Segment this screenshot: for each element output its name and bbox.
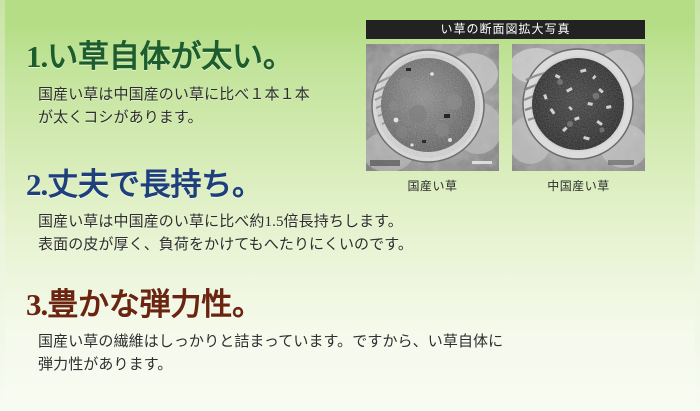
feature-1-body: 国産い草は中国産のい草に比べ１本１本 が太くコシがあります。 — [38, 84, 310, 130]
feature-3-number: 3. — [26, 287, 47, 322]
feature-3-heading: 3.豊かな弾力性。 — [26, 288, 503, 323]
photo-cell-chinese: 中国産い草 — [512, 44, 645, 194]
feature-2-heading-text: 丈夫で長持ち。 — [47, 167, 263, 202]
domestic-igusa-photo — [366, 44, 499, 171]
photo-comparison-panel: い草の断面図拡大写真 — [366, 20, 645, 194]
feature-3-heading-text: 豊かな弾力性。 — [47, 287, 263, 322]
photo-cell-domestic: 国産い草 — [366, 44, 499, 194]
feature-1-number: 1. — [26, 39, 47, 74]
feature-2-number: 2. — [26, 167, 47, 202]
promo-banner: 1.い草自体が太い。 国産い草は中国産のい草に比べ１本１本 が太くコシがあります… — [0, 0, 700, 411]
photo-row: 国産い草 — [366, 44, 645, 194]
feature-2-body: 国産い草は中国産のい草に比べ約1.5倍長持ちします。 表面の皮が厚く、負荷をかけ… — [38, 211, 413, 257]
chinese-igusa-photo — [512, 44, 645, 171]
feature-2-heading: 2.丈夫で長持ち。 — [26, 168, 413, 203]
feature-1-heading-text: い草自体が太い。 — [47, 39, 293, 74]
feature-section-3: 3.豊かな弾力性。 国産い草の繊維はしっかりと詰まっています。ですから、い草自体… — [26, 288, 503, 376]
domestic-igusa-cross-section-image — [366, 44, 499, 171]
feature-1-heading: 1.い草自体が太い。 — [26, 40, 310, 75]
chinese-igusa-cross-section-image — [512, 44, 645, 171]
feature-section-1: 1.い草自体が太い。 国産い草は中国産のい草に比べ１本１本 が太くコシがあります… — [26, 40, 310, 129]
photo-panel-title: い草の断面図拡大写真 — [366, 20, 645, 39]
domestic-igusa-caption: 国産い草 — [366, 177, 499, 194]
feature-section-2: 2.丈夫で長持ち。 国産い草は中国産のい草に比べ約1.5倍長持ちします。 表面の… — [26, 168, 413, 256]
content-area: 1.い草自体が太い。 国産い草は中国産のい草に比べ１本１本 が太くコシがあります… — [0, 0, 700, 411]
feature-3-body: 国産い草の繊維はしっかりと詰まっています。ですから、い草自体に 弾力性があります… — [38, 331, 503, 377]
chinese-igusa-caption: 中国産い草 — [512, 177, 645, 194]
